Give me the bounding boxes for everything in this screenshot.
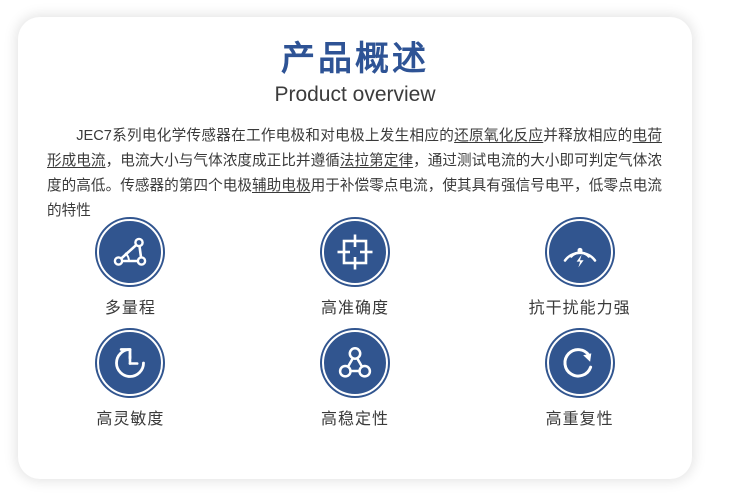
feature-badge — [322, 330, 388, 396]
triangle-network-icon — [334, 342, 376, 384]
feature-item-high-repeatability: 高重复性 — [467, 330, 692, 428]
paragraph-segment-2: 并释放相应的 — [543, 128, 632, 144]
page-title-chinese: 产品概述 — [18, 17, 692, 79]
paragraph-underline-3: 法拉第定律 — [340, 153, 413, 169]
paragraph-segment-1: JEC7系列电化学传感器在工作电极和对电极上发生相应的 — [76, 128, 454, 144]
paragraph-segment-3: ，电流大小与气体浓度成正比并遵循 — [106, 153, 340, 169]
product-overview-card: 产品概述 Product overview JEC7系列电化学传感器在工作电极和… — [18, 17, 692, 479]
feature-grid: 多量程 高准确度 — [18, 219, 692, 441]
crosshair-target-icon — [334, 231, 376, 273]
feature-item-high-stability: 高稳定性 — [243, 330, 468, 428]
feature-badge — [322, 219, 388, 285]
feature-label: 抗干扰能力强 — [529, 301, 631, 317]
paragraph-underline-1: 还原氧化反应 — [454, 128, 543, 144]
angle-range-icon — [109, 231, 151, 273]
feature-item-high-sensitivity: 高灵敏度 — [18, 330, 243, 428]
feature-label: 高灵敏度 — [96, 412, 164, 428]
signal-antijam-icon — [559, 231, 601, 273]
clock-response-icon — [109, 342, 151, 384]
page-title-english: Product overview — [18, 79, 692, 107]
feature-label: 多量程 — [105, 301, 156, 317]
page-root: 产品概述 Product overview JEC7系列电化学传感器在工作电极和… — [0, 0, 750, 498]
feature-badge — [547, 330, 613, 396]
feature-item-multi-range: 多量程 — [18, 219, 243, 317]
feature-item-anti-interference: 抗干扰能力强 — [467, 219, 692, 317]
overview-paragraph: JEC7系列电化学传感器在工作电极和对电极上发生相应的还原氧化反应并释放相应的电… — [18, 108, 692, 224]
feature-badge — [547, 219, 613, 285]
feature-item-high-accuracy: 高准确度 — [243, 219, 468, 317]
feature-badge — [97, 219, 163, 285]
feature-label: 高稳定性 — [321, 412, 389, 428]
feature-label: 高准确度 — [321, 301, 389, 317]
feature-badge — [97, 330, 163, 396]
circular-refresh-icon — [559, 342, 601, 384]
paragraph-underline-4: 辅助电极 — [252, 178, 311, 194]
feature-label: 高重复性 — [546, 412, 614, 428]
